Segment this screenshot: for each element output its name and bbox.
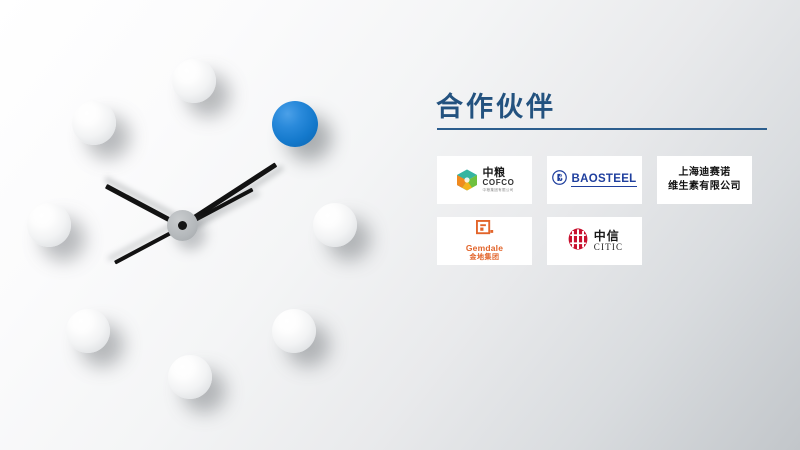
clock-marker-8 [66,309,110,353]
clock-marker-12 [172,59,216,103]
cofco-cube-icon [455,168,479,192]
clock-marker-6 [168,355,212,399]
baosteel-emblem-icon [552,170,567,190]
gemdale-cn-label: 金地集团 [470,254,500,262]
citic-emblem-icon [566,227,590,256]
citic-cn-label: 中信 [594,230,620,243]
cofco-en-label: COFCO [483,179,515,187]
clock-center-pin [178,221,187,230]
partner-card-gemdale[interactable]: Gemdale 金地集团 [437,217,532,265]
clock-marker-11 [72,101,116,145]
cofco-tagline: 中粮集团有限公司 [483,189,514,193]
gemdale-mark-icon [475,220,494,242]
citic-en-label: CITIC [594,243,624,252]
wall-clock-graphic [0,0,420,450]
disano-line-2: 维生素有限公司 [668,180,741,195]
gemdale-en-label: Gemdale [466,244,503,254]
baosteel-wordmark: BAOSTEEL [571,173,636,187]
slide-canvas: 合作伙伴 [0,0,800,450]
partners-panel: 合作伙伴 [430,90,775,265]
partner-card-disano[interactable]: 上海迪赛诺 维生素有限公司 [657,156,752,204]
disano-line-1: 上海迪赛诺 [668,166,741,181]
clock-marker-1-highlight [272,101,318,147]
clock-marker-4 [272,309,316,353]
partner-card-cofco[interactable]: 中粮 COFCO 中粮集团有限公司 [437,156,532,204]
title-underline [437,128,767,130]
section-title: 合作伙伴 [436,90,775,124]
partner-card-citic[interactable]: 中信 CITIC [547,217,642,265]
partner-logo-grid: 中粮 COFCO 中粮集团有限公司 BAOS [437,156,777,265]
partner-card-baosteel[interactable]: BAOSTEEL [547,156,642,204]
clock-marker-3 [313,203,357,247]
clock-marker-9 [27,203,71,247]
